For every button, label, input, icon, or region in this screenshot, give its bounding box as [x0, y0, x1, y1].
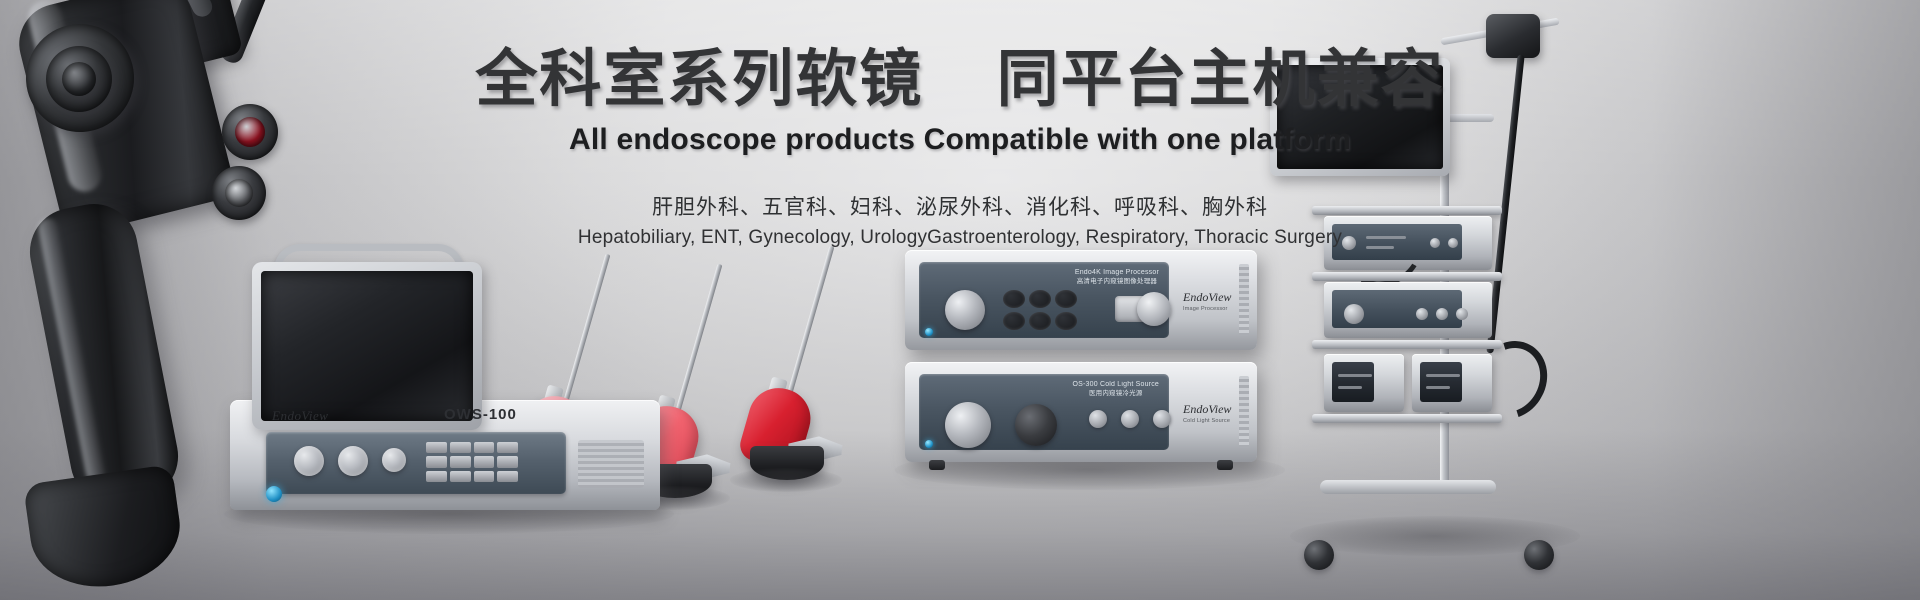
processor-power-knob — [1137, 292, 1171, 326]
cart-device-3-panel — [1332, 362, 1374, 402]
processor-button — [1029, 290, 1051, 308]
cart-base-legs — [1320, 480, 1496, 494]
processor-button — [1003, 290, 1025, 308]
cart-device-4 — [1412, 354, 1492, 412]
endoscope-connector-end — [23, 464, 187, 596]
ows-power-led — [266, 486, 282, 502]
processor-button — [1055, 290, 1077, 308]
headline-part-2: 同平台主机兼容 — [997, 42, 1445, 115]
ows-key — [474, 471, 495, 482]
cart-wheel-right — [1524, 540, 1554, 570]
processor-vent-grille — [1239, 264, 1249, 336]
departments-list-en: Hepatobiliary, ENT, Gynecology, UrologyG… — [0, 227, 1920, 249]
cart-device-3-line — [1338, 374, 1372, 377]
processor-front-panel: Endo4K Image Processor 高清电子内窥镜图像处理器 — [919, 262, 1169, 338]
processor-power-led — [925, 328, 933, 336]
ows-console-image: EndoView OWS-100 — [230, 250, 670, 510]
light-source-label-cn: 医用内窥镜冷光源 — [1072, 389, 1159, 398]
ows-key — [450, 456, 471, 467]
light-source-power-led — [925, 440, 933, 448]
light-source-mode-button — [1153, 410, 1171, 428]
cold-light-source-unit: OS-300 Cold Light Source 医用内窥镜冷光源 EndoVi… — [905, 362, 1257, 462]
cart-device-2 — [1324, 282, 1492, 338]
processor-button-grid — [1003, 290, 1077, 330]
unit-foot-left — [929, 460, 945, 470]
cart-shelf-3 — [1312, 340, 1502, 349]
scope-shaft — [672, 264, 722, 424]
light-source-front-panel: OS-300 Cold Light Source 医用内窥镜冷光源 — [919, 374, 1169, 450]
scope-shaft — [784, 246, 834, 406]
processor-button — [1055, 312, 1077, 330]
ows-key — [450, 471, 471, 482]
light-source-sub-label: Cold Light Source — [1183, 418, 1230, 424]
light-source-standby-button — [1089, 410, 1107, 428]
banner-text-block: 全科室系列软镜 同平台主机兼容 All endoscope products C… — [0, 46, 1920, 249]
ows-display-screen — [261, 271, 473, 421]
scope-display-stand — [750, 446, 824, 480]
ows-key — [474, 442, 495, 453]
ows-model-label: OWS-100 — [444, 406, 517, 423]
cart-device-4-line — [1426, 386, 1450, 389]
processor-main-dial — [945, 290, 985, 330]
light-source-dial — [945, 402, 991, 448]
ows-dial-1 — [294, 446, 324, 476]
cart-device-2-button — [1436, 308, 1448, 320]
ows-key — [497, 442, 518, 453]
cart-device-4-panel — [1420, 362, 1462, 402]
cart-shelf-2 — [1312, 272, 1502, 281]
cart-device-3-line — [1338, 386, 1362, 389]
cart-device-2-dial — [1344, 304, 1364, 324]
ows-dial-3 — [382, 448, 406, 472]
ows-monitor-bezel — [252, 262, 482, 430]
light-source-vent-grille — [1239, 376, 1249, 448]
ows-keypad — [426, 442, 518, 482]
ows-vent-grille — [578, 440, 644, 488]
ows-key — [497, 471, 518, 482]
cart-device-2-button — [1456, 308, 1468, 320]
cart-device-3 — [1324, 354, 1404, 412]
cart-wheel-left — [1304, 540, 1334, 570]
light-source-panel-label: OS-300 Cold Light Source 医用内窥镜冷光源 — [1072, 380, 1159, 398]
processor-brand-label: EndoView — [1183, 290, 1231, 305]
light-source-brightness-knob — [1015, 404, 1057, 446]
cart-device-4-line — [1426, 374, 1460, 377]
unit-foot-right — [1217, 460, 1233, 470]
ows-key — [450, 442, 471, 453]
ows-dial-2 — [338, 446, 368, 476]
processor-button — [1029, 312, 1051, 330]
processor-button — [1003, 312, 1025, 330]
ows-key — [497, 456, 518, 467]
image-processor-unit: Endo4K Image Processor 高清电子内窥镜图像处理器 Endo… — [905, 250, 1257, 350]
ows-key — [474, 456, 495, 467]
processor-panel-label: Endo4K Image Processor 高清电子内窥镜图像处理器 — [1075, 268, 1159, 286]
headline-part-1: 全科室系列软镜 — [475, 42, 923, 115]
processor-label-cn: 高清电子内窥镜图像处理器 — [1075, 277, 1159, 286]
rigid-scope-red — [724, 240, 894, 490]
processor-sub-label: Image Processor — [1183, 306, 1228, 312]
endoscope-product-banner: EndoView OWS-100 — [0, 0, 1920, 600]
light-source-lamp-button — [1121, 410, 1139, 428]
cart-shelf-4 — [1312, 414, 1502, 423]
processor-stack-image: Endo4K Image Processor 高清电子内窥镜图像处理器 Endo… — [905, 250, 1265, 480]
ows-brand-label: EndoView — [272, 408, 328, 424]
ows-key — [426, 456, 447, 467]
departments-list-cn: 肝胆外科、五官科、妇科、泌尿外科、消化科、呼吸科、胸外科 — [0, 191, 1920, 221]
page-subtitle: All endoscope products Compatible with o… — [0, 123, 1920, 157]
ows-key — [426, 442, 447, 453]
page-title: 全科室系列软镜 同平台主机兼容 — [0, 46, 1920, 113]
light-source-brand-label: EndoView — [1183, 402, 1231, 417]
ows-key — [426, 471, 447, 482]
cart-device-2-button — [1416, 308, 1428, 320]
